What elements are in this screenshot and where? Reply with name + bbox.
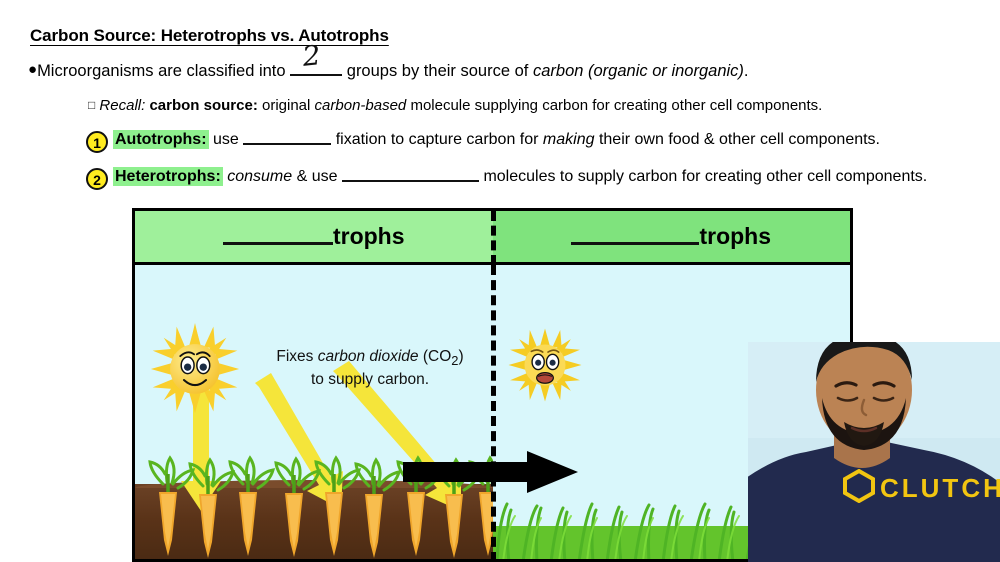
autotrophs-italic: making <box>543 131 595 148</box>
bullet-line-1: ●Microorganisms are classified into 2 gr… <box>28 61 749 81</box>
autotroph-caption-end: ) <box>458 348 463 365</box>
bullet-marker: ● <box>28 61 37 78</box>
autotrophs-pre: use <box>213 131 239 148</box>
autotroph-caption-pre: Fixes <box>276 348 313 365</box>
diagram-panels: Fixes carbon dioxide (CO2) to supply car… <box>135 265 850 562</box>
handwritten-answer-blank: 2 <box>290 62 342 81</box>
heterotrophs-fill-blank <box>342 169 479 182</box>
autotroph-panel: Fixes carbon dioxide (CO2) to supply car… <box>135 265 493 562</box>
handwritten-answer-glyph: 2 <box>301 40 322 73</box>
heterotrophs-post: molecules to supply carbon for creating … <box>483 168 927 185</box>
list-number-2: 2 <box>86 168 108 190</box>
webcam-overlay[interactable]: CLUTCH <box>748 342 1000 562</box>
heterotrophs-term: Heterotrophs: <box>113 167 223 186</box>
bullet-text-pre: Microorganisms are classified into <box>37 62 286 80</box>
heterotrophs-pre: & use <box>297 168 338 185</box>
presenter-video <box>748 342 1000 562</box>
recall-term: carbon source: <box>149 97 257 114</box>
heterotrophs-line: 2Heterotrophs: consume & use molecules t… <box>86 168 927 190</box>
list-number-1: 1 <box>86 131 108 153</box>
autotroph-caption-post: (CO <box>423 348 451 365</box>
recall-italic: carbon-based <box>315 97 407 114</box>
right-arrow-icon <box>403 451 578 493</box>
recall-line: □ Recall: carbon source: original carbon… <box>88 97 822 114</box>
bullet-text-post: groups by their source of <box>347 62 529 80</box>
panel-dashed-divider <box>491 265 496 562</box>
autotrophs-term: Autotrophs: <box>113 130 209 149</box>
header-dashed-divider <box>491 211 496 265</box>
autotroph-caption-line2: to supply carbon. <box>311 371 429 388</box>
page-title: Carbon Source: Heterotrophs vs. Autotrop… <box>30 26 389 46</box>
bullet-period: . <box>744 62 749 80</box>
autotrophs-line: 1Autotrophs: use fixation to capture car… <box>86 131 880 153</box>
header-cell-autotrophs: trophs <box>135 211 493 262</box>
square-bullet-icon: □ <box>88 98 95 112</box>
autotrophs-mid: fixation to capture carbon for <box>336 131 539 148</box>
header-cell-heterotrophs: trophs <box>493 211 851 262</box>
autotroph-caption: Fixes carbon dioxide (CO2) to supply car… <box>255 347 485 389</box>
autotrophs-post: their own food & other cell components. <box>599 131 880 148</box>
header-right-word: trophs <box>699 223 771 250</box>
diagram-header-row: trophs trophs <box>135 211 850 265</box>
hexagon-logo-icon <box>842 469 876 503</box>
shirt-brand-text: CLUTCH <box>880 473 1000 504</box>
recall-pre: original <box>262 97 310 114</box>
header-left-blank <box>223 229 333 245</box>
header-left-word: trophs <box>333 223 405 250</box>
happy-sun-icon <box>149 323 241 415</box>
slide-page: Carbon Source: Heterotrophs vs. Autotrop… <box>0 0 1000 562</box>
recall-label: Recall: <box>99 97 145 114</box>
header-right-blank <box>571 229 699 245</box>
bullet-italic-term: carbon (organic or inorganic) <box>533 62 744 80</box>
recall-post: molecule supplying carbon for creating o… <box>410 97 822 114</box>
sad-sun-icon <box>507 327 583 403</box>
autotrophs-fill-blank <box>243 132 331 145</box>
comparison-diagram: trophs trophs <box>132 208 853 562</box>
autotroph-caption-italic: carbon dioxide <box>318 348 419 365</box>
heterotrophs-italic: consume <box>227 168 292 185</box>
